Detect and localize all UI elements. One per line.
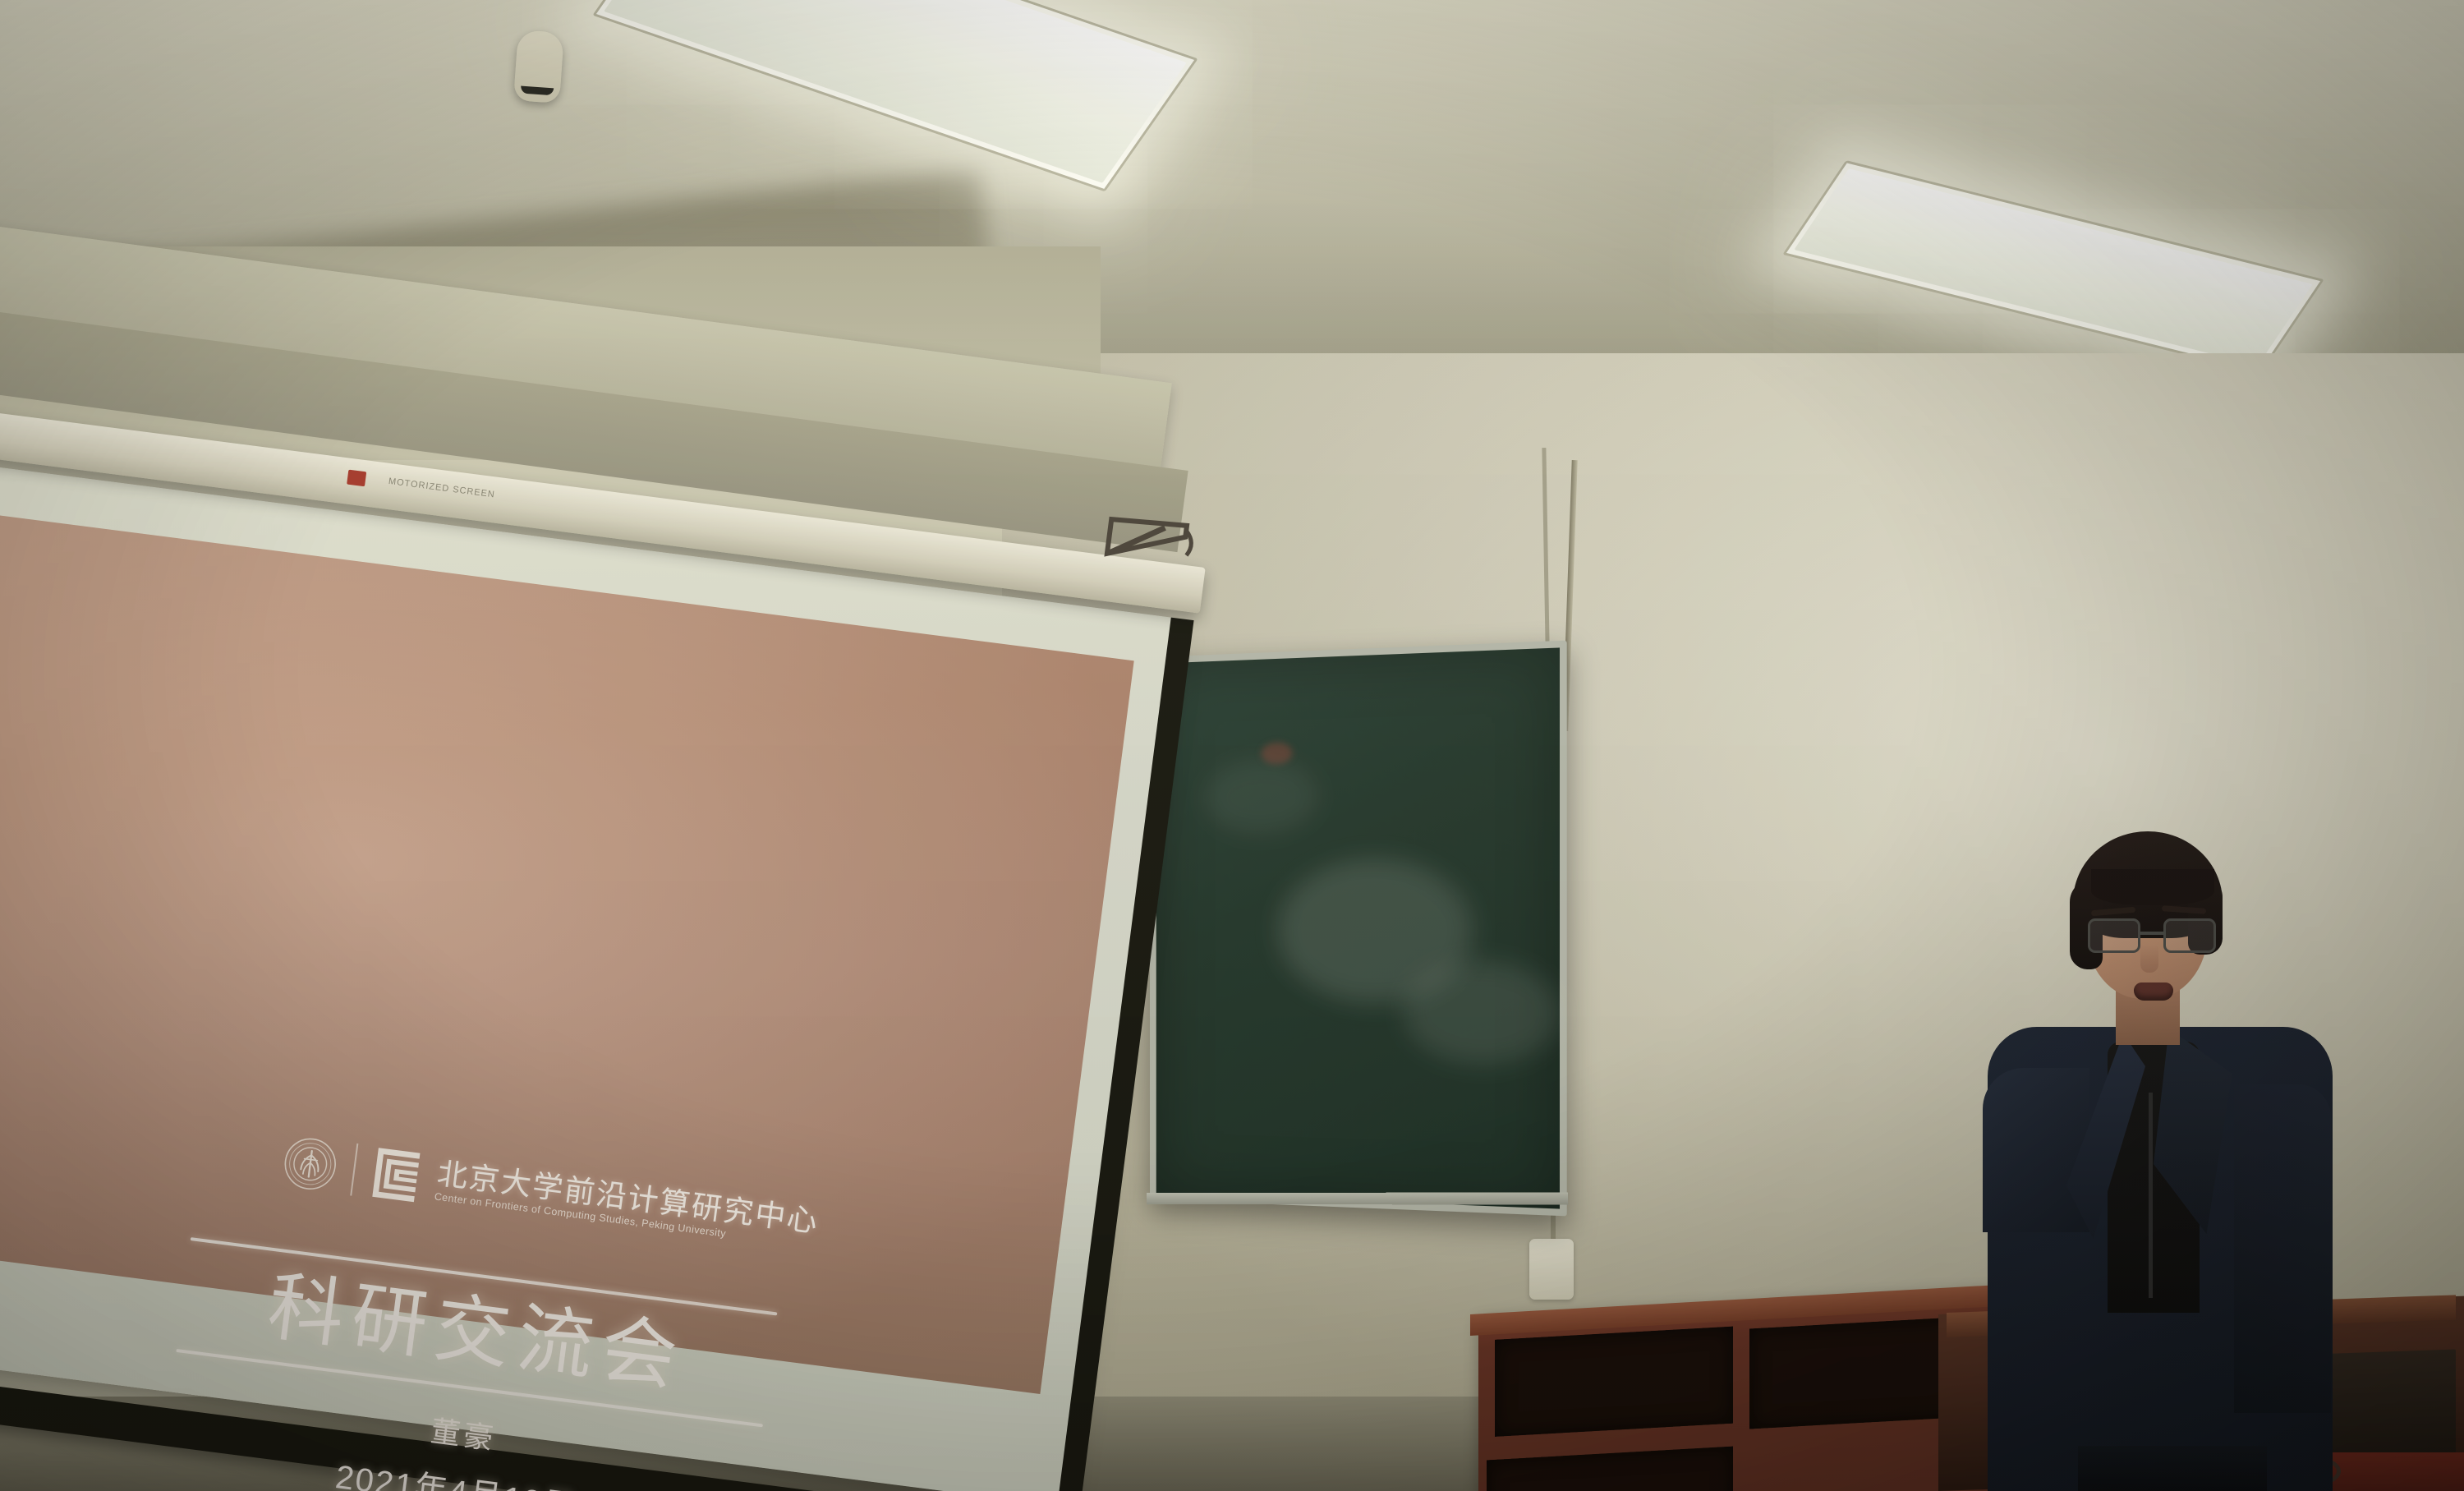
- projected-slide: [0, 508, 1134, 1394]
- lens-right: [2163, 918, 2216, 953]
- projection-screen[interactable]: [0, 460, 1173, 1491]
- chalk-mark-red: [1261, 742, 1292, 764]
- wall-socket-icon: [1529, 1239, 1574, 1300]
- trousers: [2078, 1446, 2267, 1491]
- nose: [2140, 945, 2158, 973]
- chalk-smudge: [1204, 758, 1319, 835]
- lens-left: [2088, 918, 2140, 953]
- jacket-shoulder-left: [1983, 1068, 2089, 1232]
- cabinet-compartment: [1487, 1447, 1733, 1491]
- classroom-scene: MOTORIZED SCREEN: [0, 0, 2464, 1491]
- housing-label-text: MOTORIZED SCREEN: [388, 476, 495, 500]
- chalk-tray: [1147, 1193, 1568, 1205]
- chalk-smudge: [1404, 960, 1561, 1065]
- shirt-zipper: [2149, 1093, 2153, 1298]
- chalkboard: [1150, 641, 1567, 1217]
- hair-fringe: [2091, 869, 2214, 905]
- cabinet-compartment: [1495, 1327, 1733, 1437]
- housing-brand-label: [347, 470, 366, 487]
- presenter-person: [1988, 821, 2333, 1491]
- jacket-arm-right: [2234, 1084, 2331, 1413]
- detector-vent: [521, 86, 554, 96]
- glasses-bridge: [2140, 932, 2163, 935]
- screen-mount-bracket-icon: [1102, 513, 1207, 581]
- smoke-detector-icon: [513, 30, 564, 104]
- mouth: [2134, 982, 2173, 1001]
